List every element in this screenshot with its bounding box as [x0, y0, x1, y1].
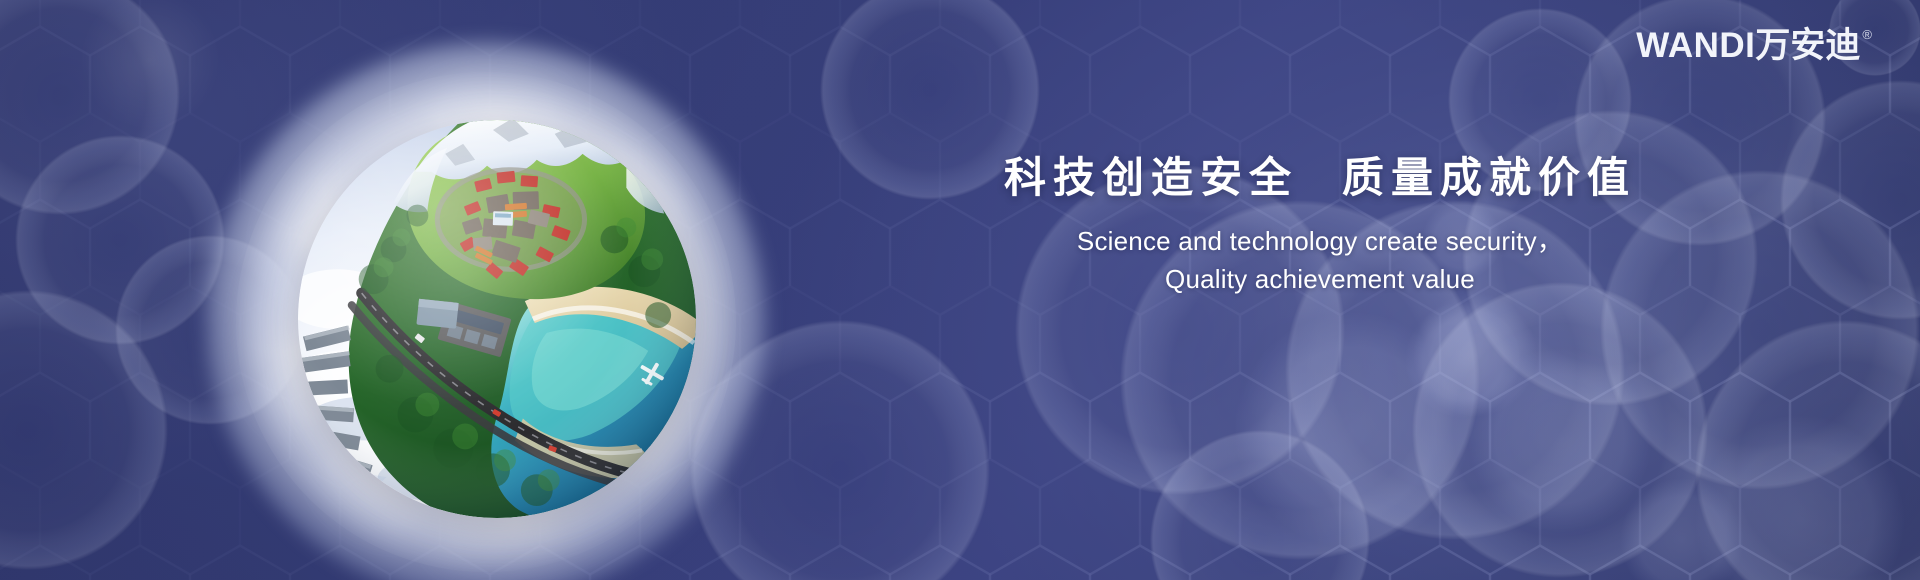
logo-latin-text: WANDI	[1636, 26, 1755, 66]
brand-logo[interactable]: WANDI 万安迪 ®	[1636, 26, 1872, 66]
subtitle-line-2: Quality achievement value	[820, 260, 1820, 298]
little-planet-globe	[298, 120, 696, 518]
logo-cjk-text: 万安迪	[1755, 26, 1860, 66]
hero-copy: 科技创造安全质量成就价值 Science and technology crea…	[820, 150, 1820, 298]
headline-right: 质量成就价值	[1342, 154, 1636, 201]
page-title: 科技创造安全质量成就价值	[820, 150, 1820, 206]
subtitle-line-1: Science and technology create security，	[820, 222, 1820, 260]
hero-banner: WANDI 万安迪 ® 科技创造安全质量成就价值 Science and tec…	[0, 0, 1920, 580]
registered-trademark-icon: ®	[1862, 28, 1872, 41]
globe-illustration	[198, 28, 778, 580]
headline-left: 科技创造安全	[1004, 154, 1298, 201]
